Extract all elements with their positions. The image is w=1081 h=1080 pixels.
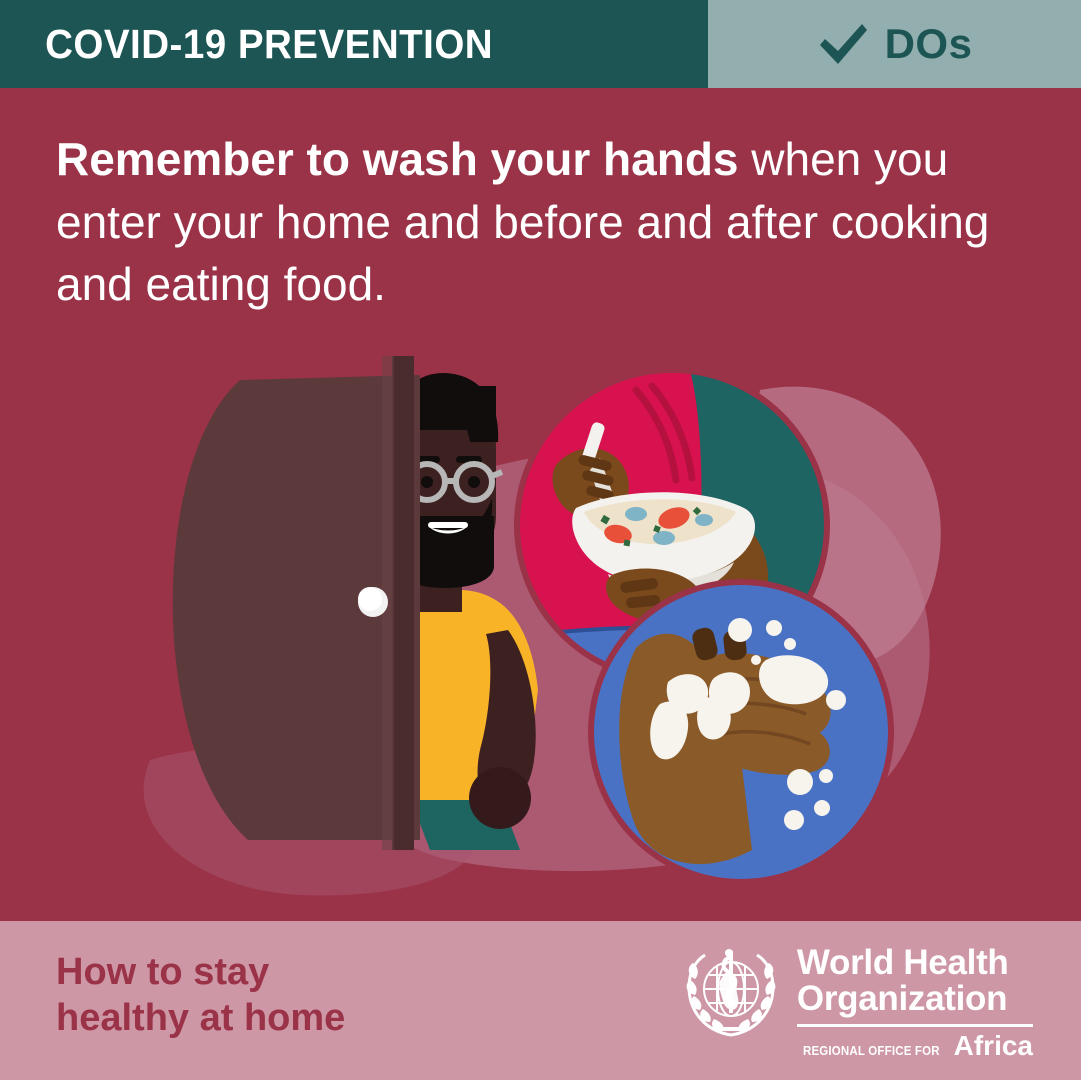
eye-right <box>468 476 480 488</box>
header-bar: COVID-19 PREVENTION DOs <box>0 0 1081 88</box>
who-name: World Health Organization <box>797 945 1033 1017</box>
who-logo: World Health Organization REGIONAL OFFIC… <box>679 939 1033 1060</box>
veg-3 <box>695 514 713 526</box>
washing-hands-scene <box>588 579 894 885</box>
footer-tagline-line2: healthy at home <box>56 995 345 1041</box>
dos-label: DOs <box>885 23 973 65</box>
header-left-band: COVID-19 PREVENTION <box>0 0 708 88</box>
illustration-area <box>0 330 1081 930</box>
who-sub: REGIONAL OFFICE FOR Africa <box>797 1032 1033 1060</box>
eye-left <box>421 476 433 488</box>
poster-canvas: COVID-19 PREVENTION DOs Remember to wash… <box>0 0 1081 1080</box>
veg-1 <box>625 507 647 521</box>
who-emblem-icon <box>679 939 783 1043</box>
page-title: COVID-19 PREVENTION <box>0 24 493 65</box>
door-edge <box>392 356 414 850</box>
who-regional-office-label: REGIONAL OFFICE FOR <box>803 1044 940 1058</box>
footer-bar: How to stay healthy at home <box>0 921 1081 1080</box>
who-wordmark: World Health Organization REGIONAL OFFIC… <box>797 939 1033 1060</box>
who-region-label: Africa <box>954 1032 1033 1060</box>
who-divider <box>797 1024 1033 1027</box>
headline-bold: Remember to wash your hands <box>56 133 739 185</box>
check-mark-icon <box>817 21 869 67</box>
footer-tagline-line1: How to stay <box>56 949 345 995</box>
headline-text: Remember to wash your hands when you ent… <box>56 128 1041 316</box>
footer-tagline: How to stay healthy at home <box>56 949 345 1042</box>
veg-2 <box>653 531 675 545</box>
fist <box>469 767 531 829</box>
header-right-band: DOs <box>708 0 1081 88</box>
